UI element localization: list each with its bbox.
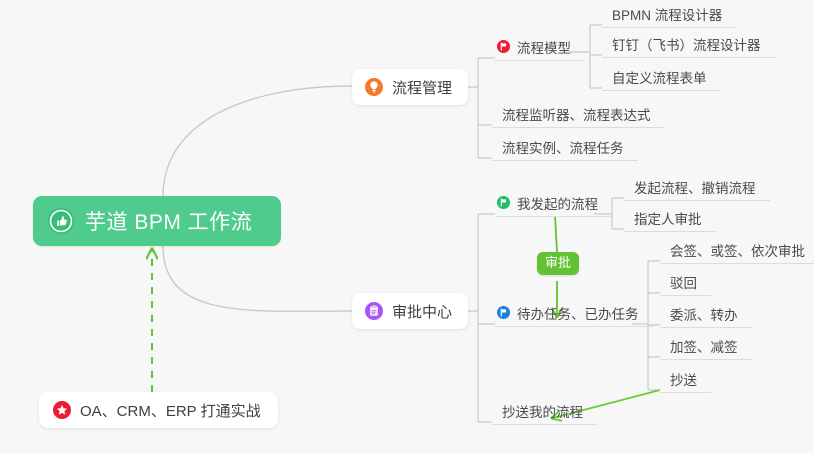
- node-delegate-transfer[interactable]: 委派、转办: [660, 305, 752, 328]
- approval-flow-tag[interactable]: 审批: [537, 252, 579, 275]
- node-dingtalk-designer-label: 钉钉（飞书）流程设计器: [612, 34, 761, 54]
- flow-arrow-started-to-todo-top: [555, 216, 557, 252]
- clipboard-icon: [365, 302, 383, 320]
- node-assigned-approval[interactable]: 指定人审批: [624, 209, 716, 232]
- integration-note-card[interactable]: OA、CRM、ERP 打通实战: [39, 392, 278, 428]
- node-add-remove-sign-label: 加签、减签: [670, 336, 738, 356]
- node-carbon-copy-label: 抄送: [670, 369, 697, 389]
- node-process-instance-label: 流程实例、流程任务: [502, 137, 624, 157]
- star-icon: [53, 401, 71, 419]
- approval-flow-tag-label: 审批: [545, 255, 571, 270]
- node-carbon-copy[interactable]: 抄送: [660, 370, 711, 393]
- node-bpmn-designer[interactable]: BPMN 流程设计器: [602, 5, 736, 28]
- node-custom-form-label: 自定义流程表单: [612, 67, 707, 87]
- node-reject-label: 驳回: [670, 272, 697, 292]
- node-todo-done-tasks-label: 待办任务、已办任务: [517, 303, 639, 323]
- flag-icon: [497, 196, 510, 209]
- root-label: 芋道 BPM 工作流: [85, 206, 252, 236]
- flag-icon: [497, 40, 510, 53]
- node-dingtalk-designer[interactable]: 钉钉（飞书）流程设计器: [602, 35, 775, 58]
- node-process-listener-label: 流程监听器、流程表达式: [502, 104, 651, 124]
- node-countersign[interactable]: 会签、或签、依次审批: [660, 241, 814, 264]
- node-assigned-approval-label: 指定人审批: [634, 208, 702, 228]
- node-cc-my-processes[interactable]: 抄送我的流程: [492, 402, 597, 425]
- node-start-cancel-process-label: 发起流程、撤销流程: [634, 177, 756, 197]
- node-custom-form[interactable]: 自定义流程表单: [602, 68, 721, 91]
- lightbulb-icon: [365, 78, 383, 96]
- node-process-model[interactable]: 流程模型: [495, 38, 585, 61]
- flag-icon: [497, 306, 510, 319]
- branch-approval-center-label: 审批中心: [392, 301, 452, 322]
- node-cc-my-processes-label: 抄送我的流程: [502, 401, 583, 421]
- node-start-cancel-process[interactable]: 发起流程、撤销流程: [624, 178, 770, 201]
- node-todo-done-tasks[interactable]: 待办任务、已办任务: [495, 304, 653, 327]
- node-my-started-processes[interactable]: 我发起的流程: [495, 194, 612, 217]
- node-delegate-transfer-label: 委派、转办: [670, 304, 738, 324]
- node-reject[interactable]: 驳回: [660, 273, 711, 296]
- node-process-instance[interactable]: 流程实例、流程任务: [492, 138, 638, 161]
- node-countersign-label: 会签、或签、依次审批: [670, 240, 805, 260]
- thumbs-up-icon: [47, 207, 75, 235]
- branch-process-management[interactable]: 流程管理: [352, 69, 468, 105]
- node-process-listener[interactable]: 流程监听器、流程表达式: [492, 105, 665, 128]
- node-process-model-label: 流程模型: [517, 37, 571, 57]
- mindmap-canvas: 芋道 BPM 工作流 流程管理 流程模型 流程监听器、流程表达式 流程实例、流: [0, 0, 814, 453]
- branch-approval-center[interactable]: 审批中心: [352, 293, 468, 329]
- node-add-remove-sign[interactable]: 加签、减签: [660, 337, 752, 360]
- branch-process-management-label: 流程管理: [392, 77, 452, 98]
- node-bpmn-designer-label: BPMN 流程设计器: [612, 4, 722, 24]
- edge-root-to-approve: [163, 246, 352, 311]
- node-my-started-processes-label: 我发起的流程: [517, 193, 598, 213]
- edge-root-to-process: [163, 86, 352, 196]
- root-node[interactable]: 芋道 BPM 工作流: [33, 196, 281, 246]
- integration-note-label: OA、CRM、ERP 打通实战: [80, 400, 261, 421]
